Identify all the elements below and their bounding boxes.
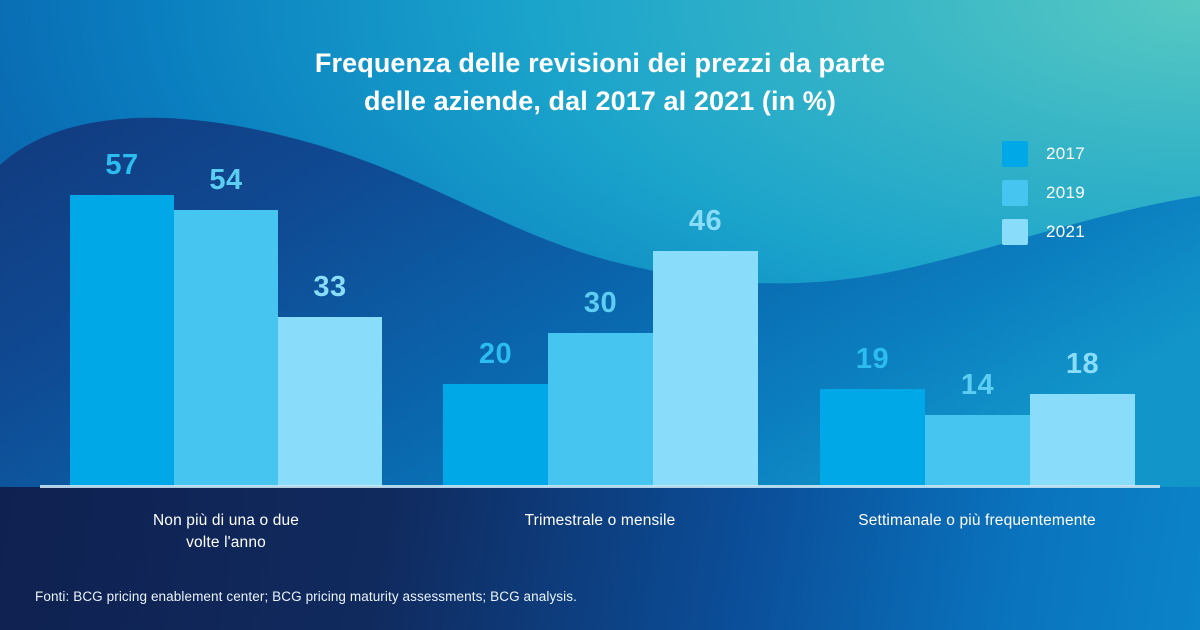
bar-value-2019-group1: 54 <box>174 166 278 195</box>
bar-2017-group2[interactable] <box>443 384 548 486</box>
bar-value-2017-group2: 20 <box>443 340 548 369</box>
bar-2017-group1[interactable] <box>70 195 174 486</box>
bar-2019-group1[interactable] <box>174 210 278 486</box>
bar-value-2021-group3: 18 <box>1030 350 1135 379</box>
category-label-2-line-1: Trimestrale o mensile <box>525 512 676 529</box>
bar-value-2019-group2: 30 <box>548 289 653 318</box>
bar-2019-group3[interactable] <box>925 415 1030 486</box>
bar-2021-group3[interactable] <box>1030 394 1135 486</box>
bar-2019-group2[interactable] <box>548 333 653 486</box>
bar-2017-group3[interactable] <box>820 389 925 486</box>
category-label-1-line-1: Non più di una o due <box>153 512 299 529</box>
category-label-2: Trimestrale o mensile <box>440 510 760 532</box>
bar-chart-plot-area: 57 54 33 20 30 46 19 14 18 Non più di un… <box>0 0 1200 630</box>
source-note: Fonti: BCG pricing enablement center; BC… <box>35 589 577 604</box>
category-label-1-line-2: volte l'anno <box>186 534 266 551</box>
bar-2021-group2[interactable] <box>653 251 758 486</box>
bar-value-2019-group3: 14 <box>925 371 1030 400</box>
x-axis-baseline <box>40 485 1160 488</box>
category-label-3-line-1: Settimanale o più frequentemente <box>858 512 1095 529</box>
category-label-1: Non più di una o due volte l'anno <box>66 510 386 555</box>
bar-value-2021-group1: 33 <box>278 273 382 302</box>
bar-value-2021-group2: 46 <box>653 207 758 236</box>
bar-2021-group1[interactable] <box>278 317 382 486</box>
bar-value-2017-group3: 19 <box>820 345 925 374</box>
infographic-canvas: Frequenza delle revisioni dei prezzi da … <box>0 0 1200 630</box>
bar-value-2017-group1: 57 <box>70 151 174 180</box>
category-label-3: Settimanale o più frequentemente <box>817 510 1137 532</box>
